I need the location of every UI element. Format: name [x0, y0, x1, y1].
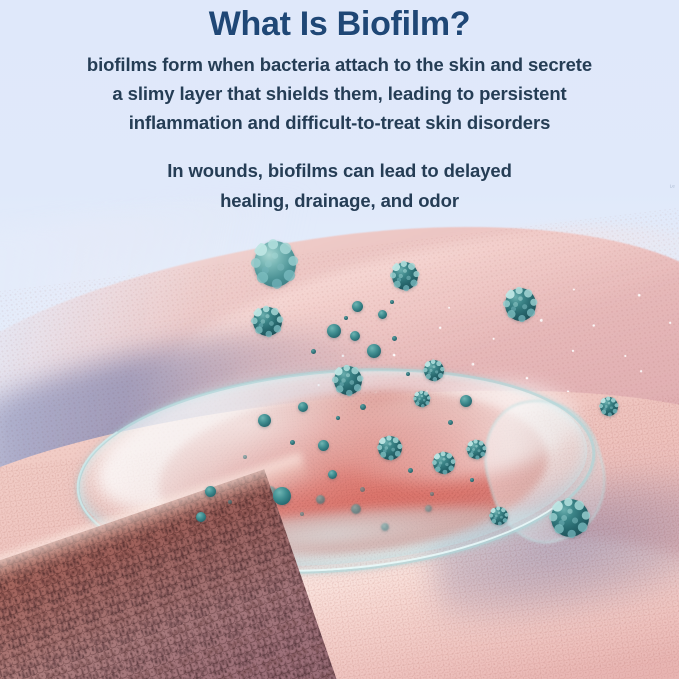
- wounds-line-1: In wounds, biofilms can lead to delayed: [14, 156, 665, 186]
- bacteria-speck: [360, 404, 366, 410]
- bacteria-colony: [378, 436, 402, 460]
- bacteria-colony: [327, 324, 341, 338]
- page-title: What Is Biofilm?: [0, 4, 679, 44]
- intro-paragraph: biofilms form when bacteria attach to th…: [0, 50, 679, 137]
- bacteria-colony: [318, 440, 329, 451]
- wounds-line-2: healing, drainage, and odor: [14, 186, 665, 216]
- bacteria-colony: [467, 440, 486, 459]
- intro-line-2: a slimy layer that shields them, leading…: [14, 79, 665, 108]
- bacteria-speck: [390, 300, 394, 304]
- bacteria-speck: [360, 487, 365, 492]
- bacteria-colony: [254, 241, 296, 287]
- corner-watermark: Le: [670, 184, 675, 189]
- wounds-paragraph: In wounds, biofilms can lead to delayed …: [0, 156, 679, 216]
- bacteria-colony: [551, 499, 589, 537]
- bacteria-speck: [406, 372, 410, 376]
- bacteria-colony: [414, 391, 430, 407]
- bacteria-colony: [352, 301, 363, 312]
- bacteria-colony: [600, 397, 618, 416]
- bacteria-speck: [300, 512, 304, 516]
- bacteria-speck: [311, 349, 316, 354]
- bacteria-colony: [350, 331, 360, 341]
- bacteria-colony: [425, 505, 432, 512]
- bacteria-speck: [448, 420, 453, 425]
- bacteria-speck: [392, 336, 397, 341]
- bacteria-colony: [316, 495, 325, 504]
- bacteria-speck: [408, 468, 413, 473]
- bacteria-colony: [298, 402, 308, 412]
- bacteria-colony: [258, 414, 271, 427]
- bacteria-colony: [253, 307, 282, 336]
- bacteria-colony: [196, 512, 206, 522]
- bacteria-colony: [328, 470, 337, 479]
- bacteria-speck: [336, 416, 340, 420]
- bacteria-colony: [367, 344, 381, 358]
- bacteria-colony: [205, 486, 216, 497]
- bacteria-colony: [351, 504, 361, 514]
- bacteria-speck: [344, 316, 348, 320]
- biofilm-infographic-poster: What Is Biofilm? biofilms form when bact…: [0, 0, 679, 679]
- bacteria-colony: [378, 310, 387, 319]
- bacteria-speck: [430, 492, 434, 496]
- intro-line-3: inflammation and difficult-to-treat skin…: [14, 108, 665, 137]
- bacteria-colony: [505, 288, 536, 321]
- bacteria-speck: [290, 440, 295, 445]
- bacteria-colony: [334, 366, 362, 395]
- bacteria-colony: [433, 452, 455, 474]
- bacteria-colony: [381, 523, 389, 531]
- bacteria-colony: [490, 507, 508, 525]
- bacteria-colony: [424, 360, 444, 381]
- headline-block: What Is Biofilm? biofilms form when bact…: [0, 0, 679, 216]
- bacteria-colony: [392, 262, 418, 290]
- bacteria-speck: [228, 500, 232, 504]
- bacteria-colony: [273, 487, 291, 505]
- bacteria-speck: [243, 455, 247, 459]
- intro-line-1: biofilms form when bacteria attach to th…: [14, 50, 665, 79]
- bacteria-colony: [460, 395, 472, 407]
- bacteria-speck: [470, 478, 474, 482]
